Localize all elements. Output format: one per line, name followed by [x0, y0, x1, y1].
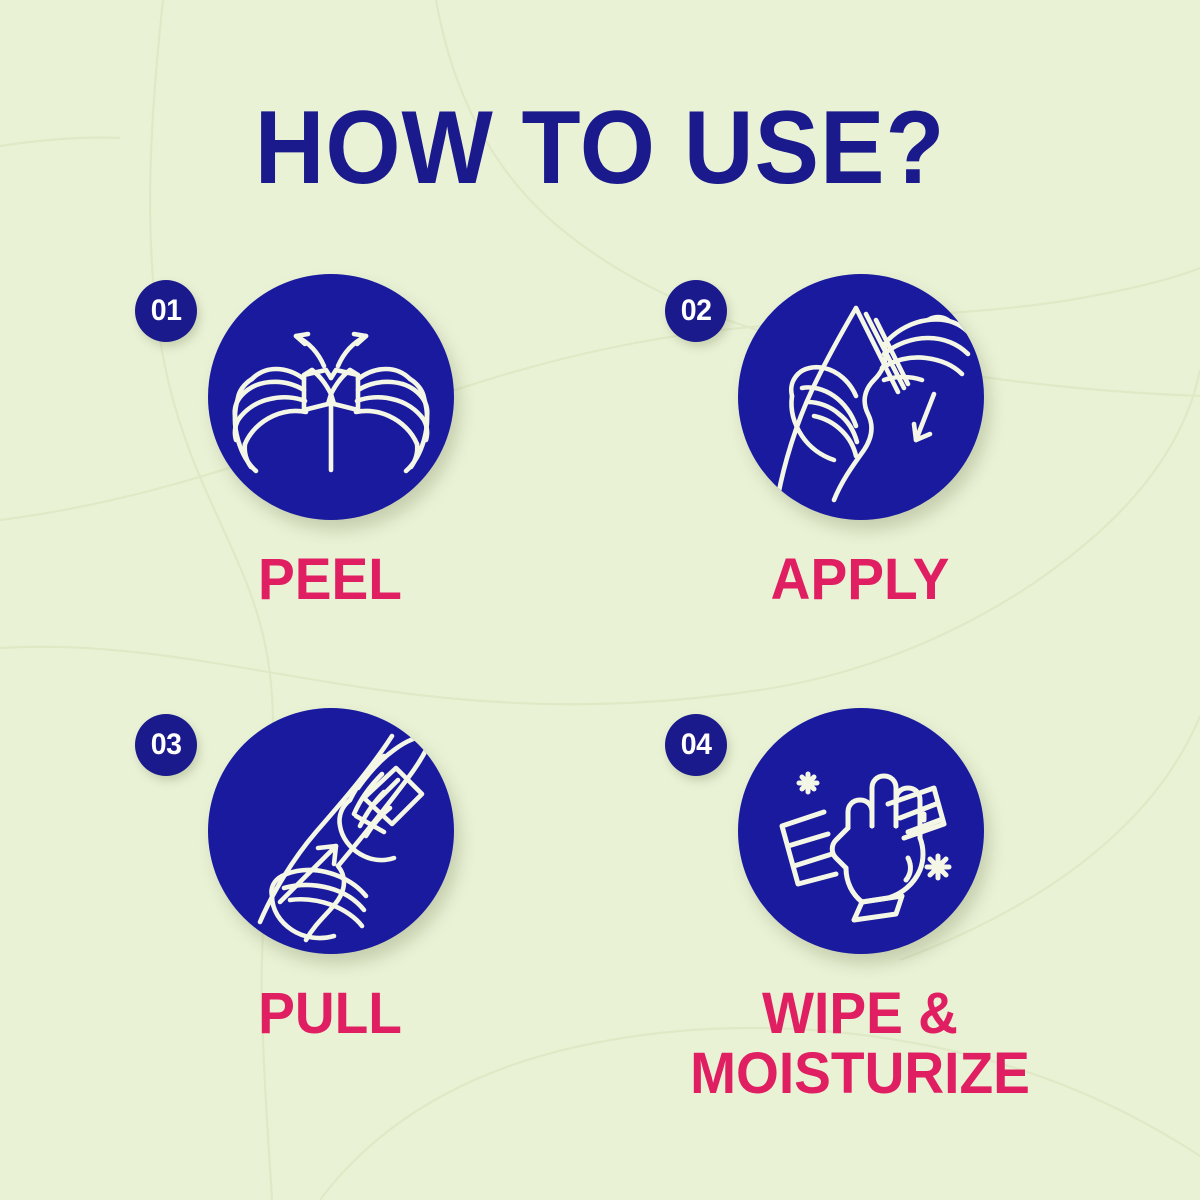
- step-item-1[interactable]: 01: [115, 272, 545, 524]
- step-2-number-badge: 02: [665, 280, 727, 342]
- step-4-label: WIPE & MOISTURIZE: [656, 984, 1065, 1103]
- two-hands-peeling-strip-icon: [208, 274, 454, 520]
- step-2-circle-wrap: 02: [645, 272, 1075, 524]
- step-4-number: 04: [681, 730, 712, 760]
- step-item-2[interactable]: 02: [645, 272, 1075, 524]
- step-3-number-badge: 03: [135, 714, 197, 776]
- step-2-number: 02: [681, 296, 712, 326]
- how-to-use-infographic: HOW TO USE? 01: [0, 0, 1200, 1200]
- step-item-4[interactable]: 04: [645, 706, 1075, 958]
- step-4-number-badge: 04: [665, 714, 727, 776]
- step-2-label: APPLY: [656, 550, 1065, 610]
- step-3-icon-disc: [208, 708, 454, 954]
- step-1-icon-disc: [208, 274, 454, 520]
- step-item-3[interactable]: 03: [115, 706, 545, 958]
- step-4-circle-wrap: 04: [645, 706, 1075, 958]
- step-3-label: PULL: [126, 984, 535, 1044]
- steps-grid: 01: [0, 0, 1200, 1200]
- step-2-icon-disc: [738, 274, 984, 520]
- step-3-number: 03: [151, 730, 182, 760]
- step-1-number-badge: 01: [135, 280, 197, 342]
- hand-pulling-strip-off-leg-icon: [208, 708, 454, 954]
- step-4-icon-disc: [738, 708, 984, 954]
- hand-wiping-with-cloth-sparkle-icon: [738, 708, 984, 954]
- hand-applying-strip-to-leg-icon: [738, 274, 984, 520]
- step-3-circle-wrap: 03: [115, 706, 545, 958]
- step-1-number: 01: [151, 296, 182, 326]
- step-1-label: PEEL: [126, 550, 535, 610]
- step-1-circle-wrap: 01: [115, 272, 545, 524]
